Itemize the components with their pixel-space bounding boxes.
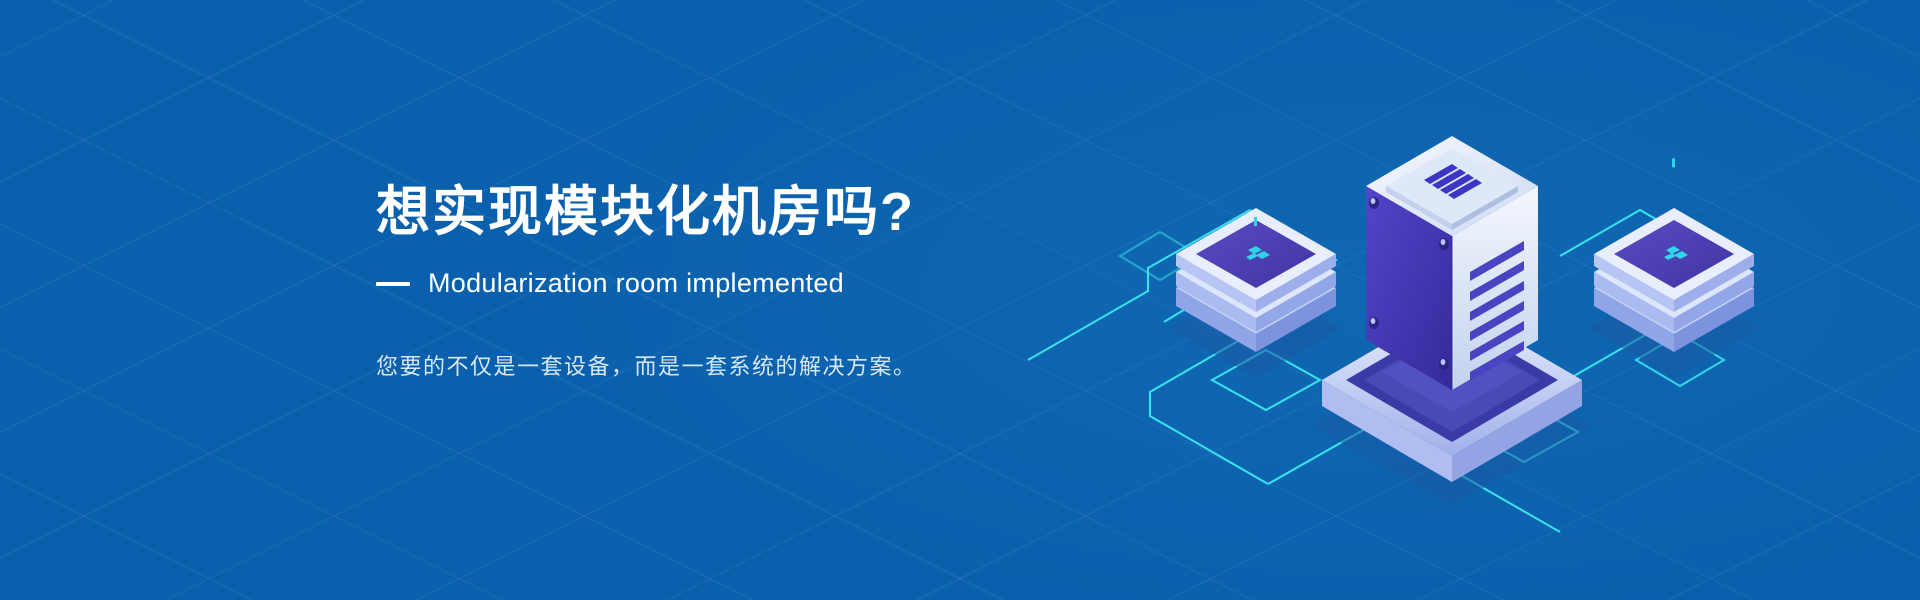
server-rack [1366,136,1538,390]
accent-dash-icon [376,282,410,286]
page-subtitle: Modularization room implemented [428,268,844,299]
hero-banner: 想实现模块化机房吗? Modularization room implement… [0,0,1920,600]
isometric-data-center-illustration [1000,60,1840,540]
